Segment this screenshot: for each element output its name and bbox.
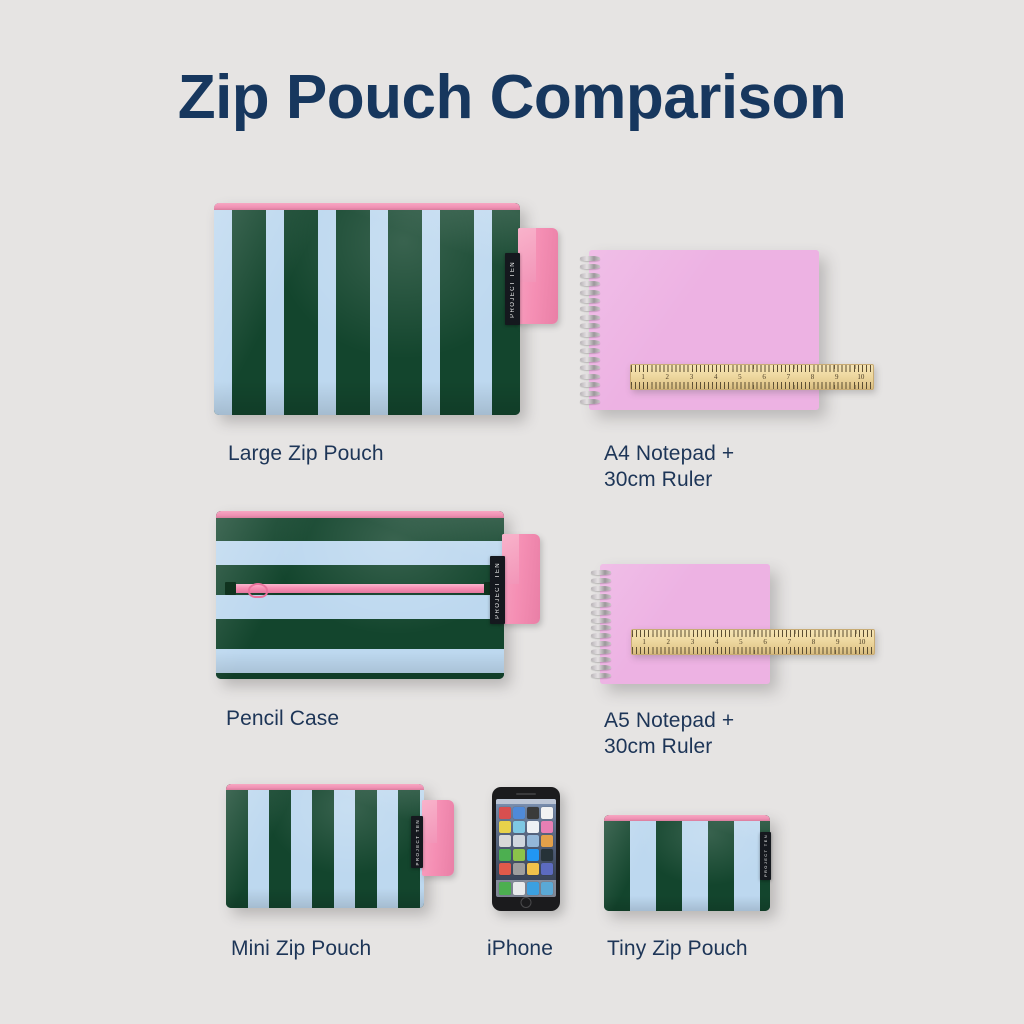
- ruler-ticks-bottom-major: [631, 385, 873, 389]
- app-icon[interactable]: [527, 835, 539, 847]
- app-icon[interactable]: [527, 807, 539, 819]
- pull-tab-fold-highlight: [422, 800, 437, 843]
- app-icon[interactable]: [499, 835, 511, 847]
- app-icon[interactable]: [499, 863, 511, 875]
- ruler-numbers: 12 34 56 78 910: [631, 373, 873, 381]
- app-icon[interactable]: [513, 835, 525, 847]
- dock-icon[interactable]: [513, 882, 525, 895]
- pull-tab[interactable]: [518, 228, 558, 324]
- app-icon[interactable]: [527, 849, 539, 861]
- app-icon[interactable]: [513, 821, 525, 833]
- caption-pencil-case: Pencil Case: [226, 706, 486, 732]
- caption-a4-notepad-ruler: A4 Notepad + 30cm Ruler: [604, 441, 894, 493]
- earpiece-speaker: [516, 793, 536, 795]
- caption-large-zip-pouch: Large Zip Pouch: [228, 441, 508, 467]
- brand-tag: PROJECT TEN: [490, 556, 505, 624]
- pull-tab[interactable]: [502, 534, 540, 624]
- tiny-zip-pouch-body[interactable]: [604, 815, 770, 911]
- brand-tag-label: PROJECT TEN: [510, 261, 516, 318]
- home-button[interactable]: [521, 897, 532, 908]
- zipper-strip: [214, 203, 520, 210]
- app-icon[interactable]: [527, 863, 539, 875]
- app-icon[interactable]: [527, 821, 539, 833]
- brand-tag: PROJECT TEN: [411, 816, 423, 868]
- mini-zip-pouch-body[interactable]: [226, 784, 424, 908]
- notepad-page-shading: [600, 564, 770, 684]
- caption-mini-zip-pouch: Mini Zip Pouch: [231, 936, 481, 962]
- ruler-30cm-a4[interactable]: 12 34 56 78 910: [630, 364, 874, 390]
- brand-tag: PROJECT TEN: [505, 253, 520, 325]
- app-icon[interactable]: [513, 849, 525, 861]
- app-icon[interactable]: [541, 849, 553, 861]
- app-icon[interactable]: [513, 863, 525, 875]
- ruler-ticks-bottom-major: [632, 650, 874, 654]
- app-icon[interactable]: [541, 835, 553, 847]
- brand-tag-label: PROJECT TEN: [415, 819, 420, 866]
- dock-icon[interactable]: [541, 882, 553, 895]
- app-icon[interactable]: [541, 821, 553, 833]
- zipper-pull[interactable]: [248, 583, 268, 598]
- ruler-numbers: 12 34 56 78 910: [632, 638, 874, 646]
- zipper-strip: [226, 784, 424, 790]
- a5-notepad-body[interactable]: [600, 564, 770, 684]
- large-zip-pouch-body[interactable]: [214, 203, 520, 415]
- app-icon[interactable]: [499, 849, 511, 861]
- caption-tiny-zip-pouch: Tiny Zip Pouch: [607, 936, 857, 962]
- caption-iphone: iPhone: [487, 936, 627, 962]
- caption-a5-notepad-ruler: A5 Notepad + 30cm Ruler: [604, 708, 894, 760]
- pull-tab-fold-highlight: [518, 228, 536, 282]
- zipper-strip: [216, 511, 504, 518]
- app-icon[interactable]: [541, 807, 553, 819]
- iphone-screen[interactable]: [496, 799, 556, 897]
- iphone-body[interactable]: [492, 787, 560, 911]
- brand-tag-label: PROJECT TEN: [763, 834, 768, 877]
- zipper-strip: [604, 815, 770, 821]
- spiral-binding: [580, 256, 600, 404]
- app-dock[interactable]: [496, 880, 556, 897]
- pull-tab[interactable]: [422, 800, 454, 876]
- ruler-ticks-top-major: [631, 365, 873, 369]
- ruler-30cm-a5[interactable]: 12 34 56 78 910: [631, 629, 875, 655]
- app-icon[interactable]: [499, 807, 511, 819]
- ruler-ticks-top-major: [632, 630, 874, 634]
- app-grid[interactable]: [496, 804, 556, 875]
- brand-tag-label: PROJECT TEN: [495, 562, 501, 619]
- stripe-pattern: [214, 203, 520, 415]
- page-title: Zip Pouch Comparison: [0, 62, 1024, 133]
- app-icon[interactable]: [513, 807, 525, 819]
- brand-tag: PROJECT TEN: [760, 832, 771, 880]
- dock-icon[interactable]: [527, 882, 539, 895]
- stripe-pattern: [226, 784, 424, 908]
- app-icon[interactable]: [541, 863, 553, 875]
- app-icon[interactable]: [499, 821, 511, 833]
- dock-icon[interactable]: [499, 882, 511, 895]
- stripe-pattern: [604, 815, 770, 911]
- spiral-binding: [591, 570, 611, 678]
